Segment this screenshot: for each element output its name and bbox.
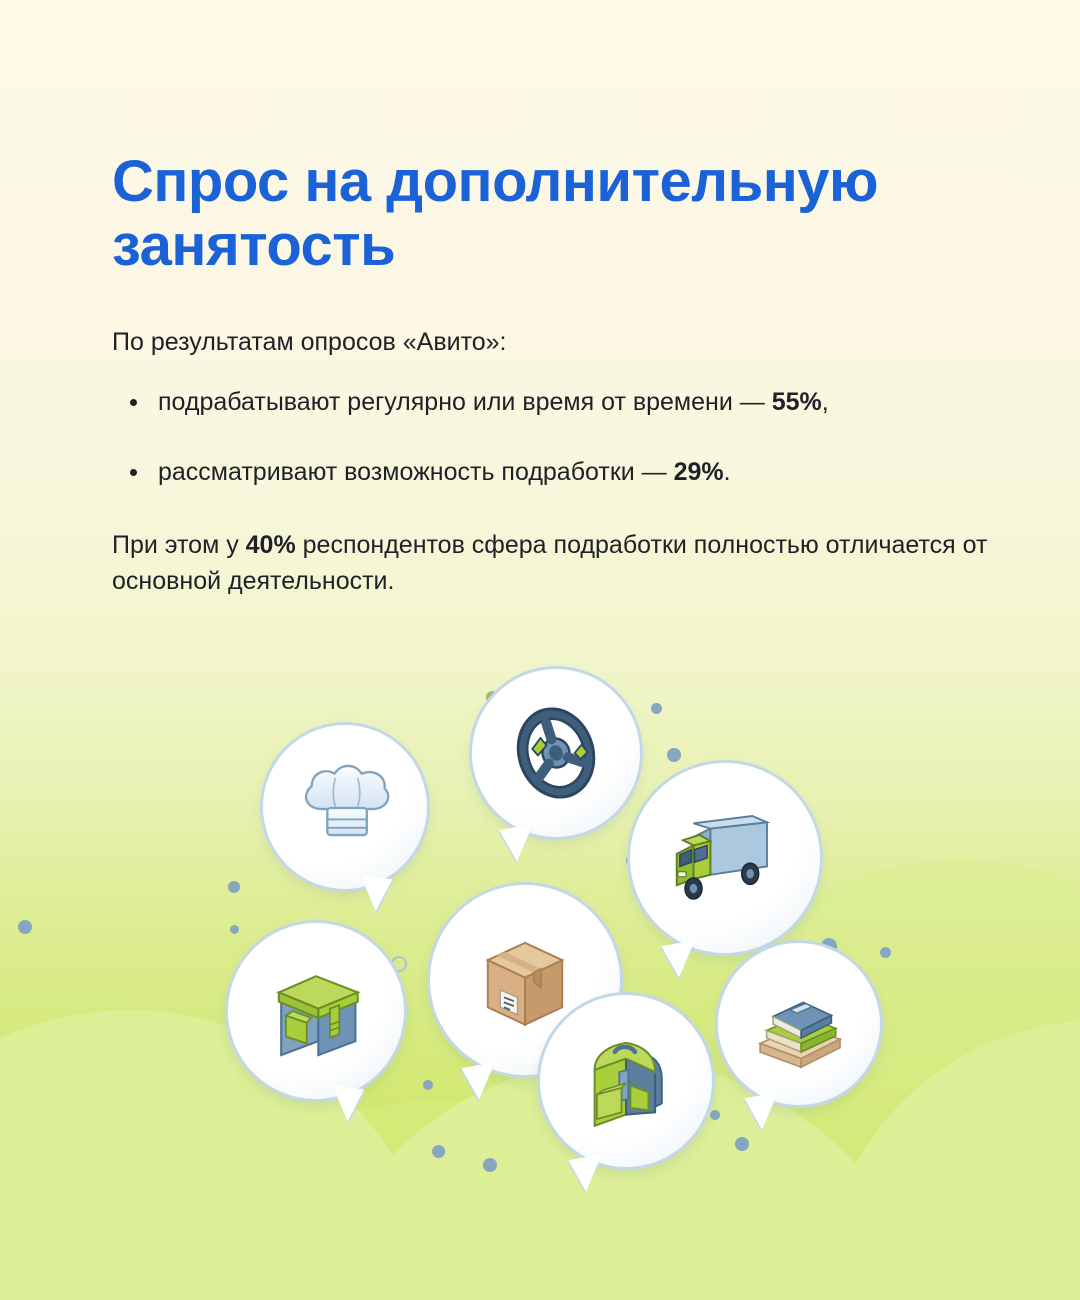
poster-canvas: Спрос на дополнительную занятость По рез… [0,0,1080,1300]
outro-highlight-value: 40% [246,531,296,559]
decorative-dot [880,947,891,958]
lead-paragraph: По результатам опросов «Авито»: [112,326,992,360]
decorative-dot [483,1158,497,1172]
decorative-dot [230,925,239,934]
bubble-chef-hat[interactable] [263,725,427,889]
page-title: Спрос на дополнительную занятость [112,150,992,278]
bullet-dot-icon [130,399,137,406]
bubble-steering-wheel[interactable] [472,669,640,837]
outro-text-before: При этом у [112,531,246,559]
decorative-dot [432,1145,445,1158]
decorative-dot [710,1110,720,1120]
list-item: рассматривают возможность подработки — 2… [112,455,992,491]
decorative-dot [18,920,32,934]
bullet-highlight-value: 55% [772,388,822,416]
bullet-dot-icon [130,469,137,476]
bubble-toolbox[interactable] [228,923,404,1099]
book-stack-icon [745,970,853,1078]
decorative-dot [735,1137,749,1151]
bubble-book-stack[interactable] [718,943,880,1105]
bullet-text: подрабатывают регулярно или время от вре… [158,388,772,416]
bubble-delivery-truck[interactable] [630,763,820,953]
bullet-highlight-value: 29% [674,458,724,486]
toolbox-icon [258,953,374,1069]
bubble-backpack[interactable] [540,995,712,1167]
backpack-icon [570,1025,682,1137]
list-item: подрабатывают регулярно или время от вре… [112,385,992,421]
text-content: Спрос на дополнительную занятость По рез… [112,150,992,599]
decorative-dot [423,1080,433,1090]
decorative-dot [228,881,240,893]
bullet-text-tail: , [822,388,829,416]
bullet-text: рассматривают возможность подработки — [158,458,674,486]
decorative-dot [667,748,681,762]
steering-wheel-icon [500,697,612,809]
delivery-truck-icon [662,795,788,921]
chef-hat-icon [293,755,397,859]
decorative-dot [651,703,662,714]
statistics-list: подрабатывают регулярно или время от вре… [112,385,992,490]
outro-paragraph: При этом у 40% респондентов сфера подраб… [112,528,992,599]
illustration-group [0,655,1080,1215]
bullet-text-tail: . [724,458,731,486]
